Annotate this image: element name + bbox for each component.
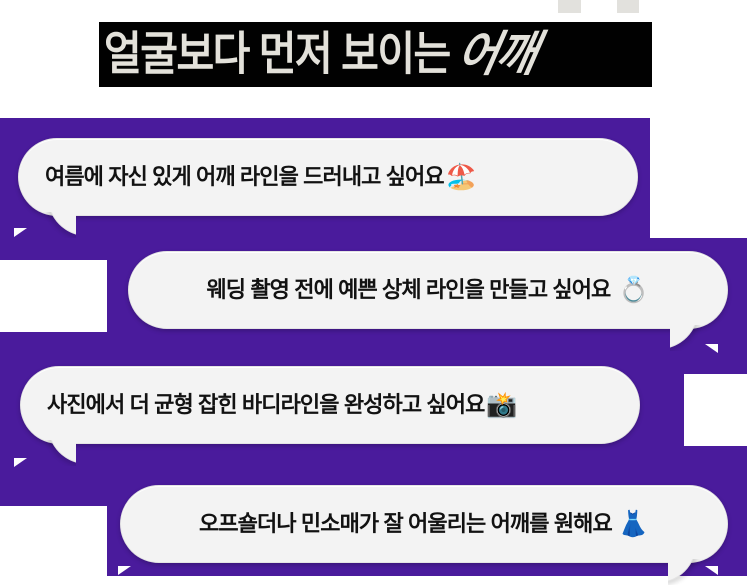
corner-mark-3 bbox=[14, 458, 27, 467]
chat-bubble-text-1: 여름에 자신 있게 어깨 라인을 드러내고 싶어요 bbox=[45, 166, 444, 188]
chat-bubble-text-3: 사진에서 더 균형 잡힌 바디라인을 완성하고 싶어요 bbox=[47, 394, 484, 416]
chat-row-3: 사진에서 더 균형 잡힌 바디라인을 완성하고 싶어요 📸 bbox=[0, 354, 747, 470]
chat-bubble-4[interactable]: 오프숄더나 민소매가 잘 어울리는 어깨를 원해요 👗 bbox=[120, 485, 728, 563]
chat-bubble-tail-4 bbox=[668, 559, 702, 585]
header-banner: 얼굴보다 먼저 보이는 어깨 bbox=[99, 22, 652, 87]
chat-bubble-1[interactable]: 여름에 자신 있게 어깨 라인을 드러내고 싶어요 🏖️ bbox=[18, 138, 638, 216]
page-title: 얼굴보다 먼저 보이는 bbox=[99, 32, 450, 78]
page-title-accent: 어깨 bbox=[453, 30, 540, 78]
chat-bubble-text-2: 웨딩 촬영 전에 예쁜 상체 라인을 만들고 싶어요 bbox=[206, 279, 610, 301]
chat-bubble-tail-1 bbox=[42, 212, 76, 238]
ring-emoji: 💍 bbox=[618, 278, 649, 303]
row-notch-2 bbox=[0, 260, 107, 332]
corner-mark-4-right bbox=[705, 566, 718, 575]
corner-mark-1 bbox=[14, 228, 27, 237]
row-notch-4 bbox=[0, 506, 107, 576]
dress-emoji: 👗 bbox=[618, 512, 649, 537]
chat-bubble-tail-3 bbox=[42, 440, 76, 466]
chat-bubble-tail-2 bbox=[670, 325, 704, 351]
chat-bubble-text-4: 오프숄더나 민소매가 잘 어울리는 어깨를 원해요 bbox=[199, 513, 612, 535]
camera-with-flash-emoji: 📸 bbox=[486, 393, 517, 418]
row-notch-3 bbox=[684, 374, 747, 446]
chat-row-1: 여름에 자신 있게 어깨 라인을 드러내고 싶어요 🏖️ bbox=[0, 118, 747, 238]
corner-mark-2 bbox=[705, 344, 718, 353]
corner-mark-4-left bbox=[118, 566, 131, 575]
chat-row-4: 오프숄더나 민소매가 잘 어울리는 어깨를 원해요 👗 bbox=[0, 470, 747, 576]
top-marker-right bbox=[617, 0, 639, 13]
chat-bubble-3[interactable]: 사진에서 더 균형 잡힌 바디라인을 완성하고 싶어요 📸 bbox=[20, 366, 640, 444]
top-marker-left bbox=[558, 0, 581, 13]
beach-with-umbrella-emoji: 🏖️ bbox=[446, 165, 477, 190]
chat-bubble-2[interactable]: 웨딩 촬영 전에 예쁜 상체 라인을 만들고 싶어요 💍 bbox=[128, 251, 728, 329]
chat-row-2: 웨딩 촬영 전에 예쁜 상체 라인을 만들고 싶어요 💍 bbox=[0, 238, 747, 354]
chat-message-list: 여름에 자신 있게 어깨 라인을 드러내고 싶어요 🏖️ 웨딩 촬영 전에 예쁜… bbox=[0, 118, 747, 576]
